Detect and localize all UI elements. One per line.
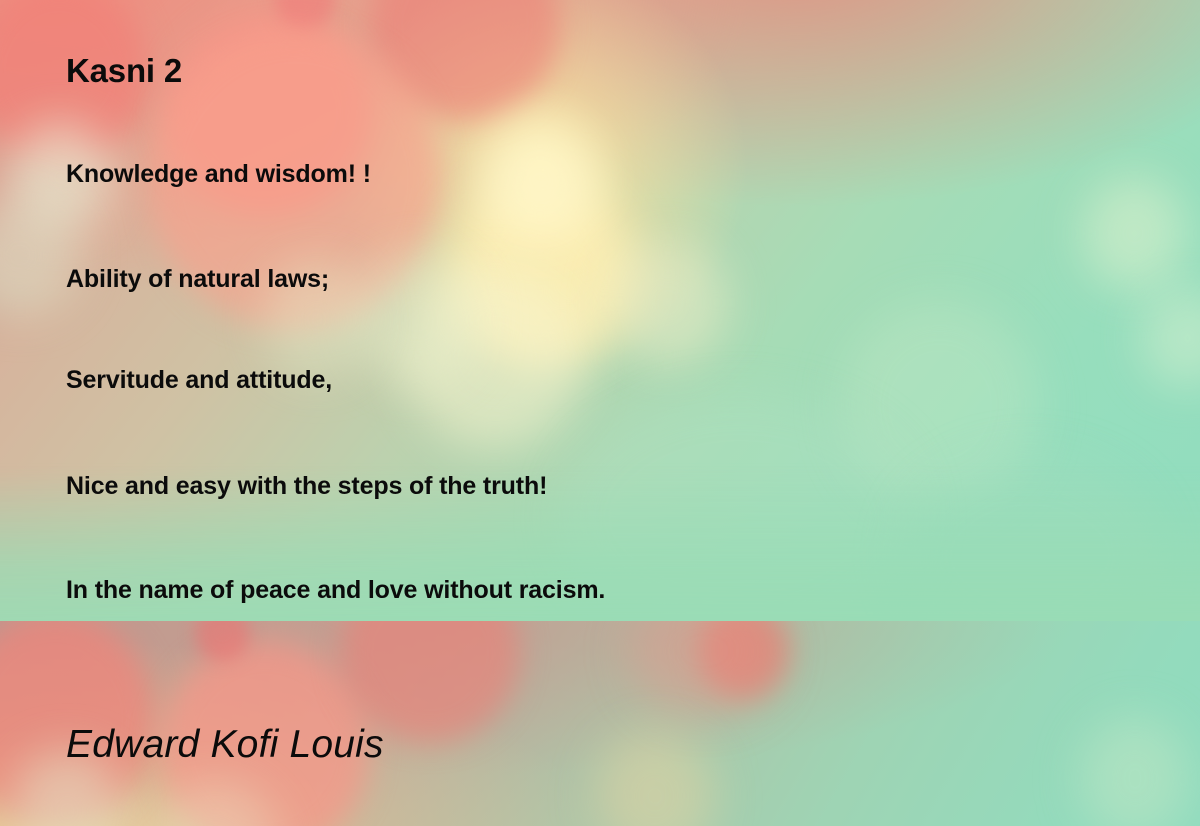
author-signature: Edward Kofi Louis (66, 723, 384, 767)
poem-line: In the name of peace and love without ra… (66, 576, 605, 605)
poem-text-layer: Kasni 2 Knowledge and wisdom! ! Ability … (0, 0, 1200, 826)
poem-line: Knowledge and wisdom! ! (66, 160, 371, 189)
poem-card: Kasni 2 Knowledge and wisdom! ! Ability … (0, 0, 1200, 826)
poem-line: Ability of natural laws; (66, 265, 329, 294)
poem-line: Nice and easy with the steps of the trut… (66, 472, 547, 501)
page-title: Kasni 2 (66, 52, 182, 90)
poem-line: Servitude and attitude, (66, 366, 332, 395)
